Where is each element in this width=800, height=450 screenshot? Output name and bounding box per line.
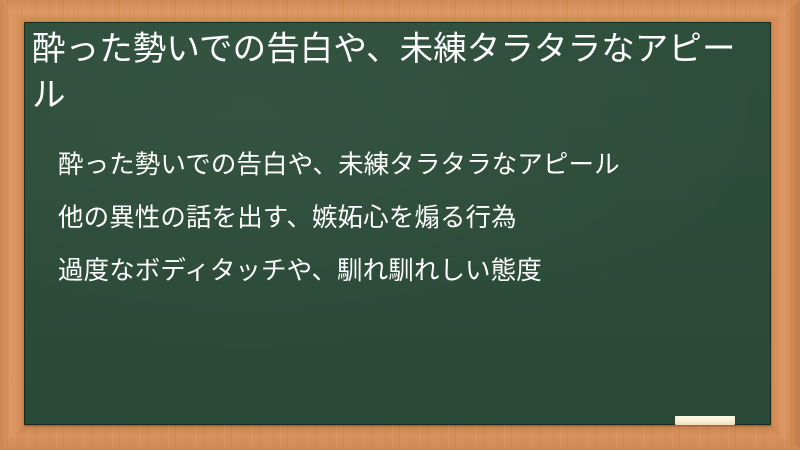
list-item: 酔った勢いでの告白や、未練タラタラなアピール — [58, 152, 758, 179]
list-item: 過度なボディタッチや、馴れ馴れしい態度 — [58, 258, 758, 285]
slide-bullet-list: 酔った勢いでの告白や、未練タラタラなアピール 他の異性の話を出す、嫉妬心を煽る行… — [58, 152, 758, 285]
frame-bottom-rail — [0, 424, 800, 450]
chalk-stick-icon — [675, 416, 735, 425]
slide-title: 酔った勢いでの告白や、未練タラタラなアピール — [32, 26, 758, 118]
frame-left-rail — [0, 0, 26, 450]
list-item: 他の異性の話を出す、嫉妬心を煽る行為 — [58, 205, 758, 232]
chalkboard-surface: 酔った勢いでの告白や、未練タラタラなアピール 酔った勢いでの告白や、未練タラタラ… — [24, 22, 771, 425]
chalkboard-slide: 酔った勢いでの告白や、未練タラタラなアピール 酔った勢いでの告白や、未練タラタラ… — [0, 0, 800, 450]
frame-right-rail — [770, 0, 800, 450]
frame-top-rail — [0, 0, 800, 24]
